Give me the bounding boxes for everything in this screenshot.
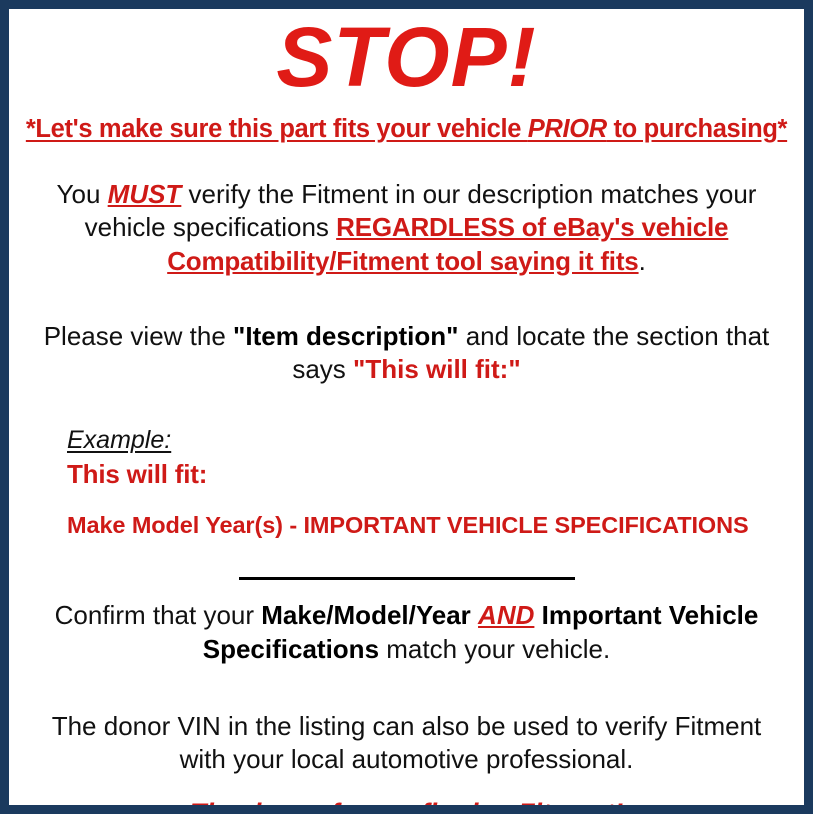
section-divider-wrapper: [21, 569, 792, 583]
confirm-space-one: [471, 600, 478, 630]
example-block: Example: This will fit: Make Model Year(…: [21, 426, 792, 539]
subtitle-lead-text: *Let's make sure this part fits your veh…: [26, 115, 528, 143]
emphasis-must: MUST: [108, 179, 182, 209]
view-segment-one: Please view the: [44, 321, 233, 351]
emphasis-make-model-year: Make/Model/Year: [261, 600, 471, 630]
verify-segment-one: You: [57, 179, 108, 209]
subtitle-emphasis-prior: PRIOR: [528, 115, 607, 143]
confirm-paragraph: Confirm that your Make/Model/Year AND Im…: [21, 599, 792, 666]
confirm-space-two: [534, 600, 541, 630]
example-label: Example:: [67, 426, 171, 455]
subtitle-tail-text: to purchasing*: [607, 115, 787, 143]
notice-content: STOP! *Let's make sure this part fits yo…: [9, 9, 804, 805]
emphasis-this-will-fit: "This will fit:": [353, 354, 521, 384]
thank-you-message: Thank you for confirming Fitment!: [21, 798, 792, 814]
section-divider: [239, 577, 575, 580]
confirm-segment-two: match your vehicle.: [379, 634, 610, 664]
donor-vin-paragraph: The donor VIN in the listing can also be…: [21, 710, 792, 777]
verify-fitment-paragraph: You MUST verify the Fitment in our descr…: [21, 178, 792, 278]
emphasis-and: AND: [478, 600, 534, 630]
fitment-notice-card: STOP! *Let's make sure this part fits yo…: [0, 0, 813, 814]
emphasis-item-description: "Item description": [233, 321, 458, 351]
example-spec-line: Make Model Year(s) - IMPORTANT VEHICLE S…: [67, 512, 792, 539]
example-label-row: Example:: [67, 426, 792, 455]
subtitle-banner: *Let's make sure this part fits your veh…: [21, 115, 792, 144]
verify-segment-three: .: [639, 246, 646, 276]
example-fit-heading: This will fit:: [67, 459, 792, 490]
view-description-paragraph: Please view the "Item description" and l…: [21, 320, 792, 387]
page-title: STOP!: [21, 9, 792, 101]
confirm-segment-one: Confirm that your: [55, 600, 262, 630]
